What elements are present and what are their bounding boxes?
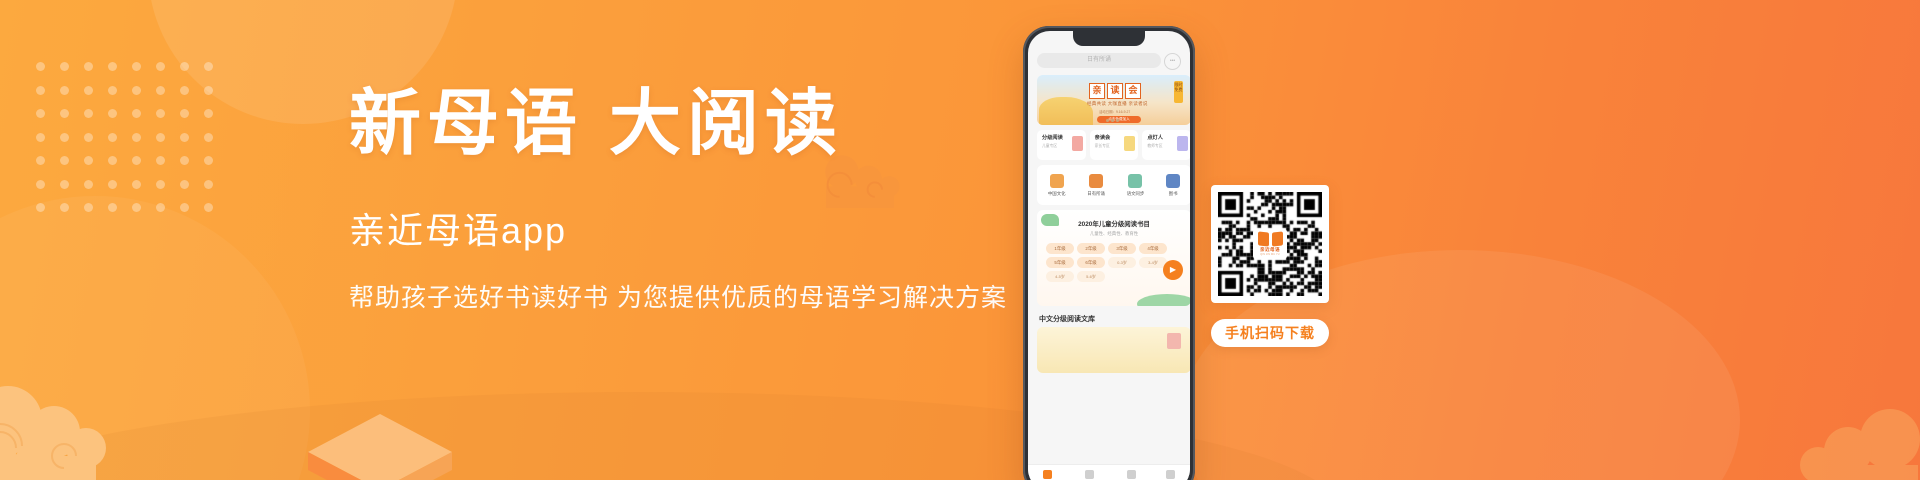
decor-dot <box>60 133 69 142</box>
headline-part-2: 大阅读 <box>609 84 843 164</box>
decor-dot <box>204 109 213 118</box>
tab-user-icon[interactable]: 我的 <box>1166 470 1175 480</box>
phone-notch <box>1073 31 1145 46</box>
grade-chip[interactable]: 4年级 <box>1139 243 1167 254</box>
decor-dot <box>60 62 69 71</box>
booklist-decor-hill <box>1137 294 1190 306</box>
chinese-cloud-icon <box>0 380 156 480</box>
promo-banner: 新母语大阅读 亲近母语app 帮助孩子选好书读好书 为您提供优质的母语学习解决方… <box>0 0 1920 480</box>
decor-dot <box>132 86 141 95</box>
decor-dot <box>36 109 45 118</box>
headline-part-1: 新母语 <box>349 84 583 164</box>
decor-dot <box>36 62 45 71</box>
promo-date: 活动日期：9.16-9.27 <box>1099 109 1130 114</box>
app-search-input[interactable]: 日有所诵 <box>1037 53 1161 68</box>
decor-dot <box>180 62 189 71</box>
decor-dot <box>132 203 141 212</box>
decor-dot <box>60 86 69 95</box>
decor-dot <box>84 109 93 118</box>
decor-dot <box>180 133 189 142</box>
decor-dot <box>84 62 93 71</box>
quick-icon-cell[interactable]: 语文同步 <box>1127 174 1145 197</box>
home-icon <box>1043 470 1052 479</box>
grade-chip[interactable]: 5年级 <box>1046 257 1074 268</box>
tab-grid-icon[interactable]: 分级阅读 <box>1082 470 1097 480</box>
recite-icon <box>1089 174 1103 188</box>
grid-icon <box>1085 470 1094 479</box>
decor-dot <box>36 156 45 165</box>
decor-dot <box>204 133 213 142</box>
decor-dot <box>108 109 117 118</box>
decor-dot <box>36 203 45 212</box>
decor-dot <box>156 203 165 212</box>
decor-dot <box>108 156 117 165</box>
feature-card-graphic <box>1177 136 1188 151</box>
page-title: 新母语大阅读 <box>349 88 1009 160</box>
feature-card-graphic <box>1124 136 1135 151</box>
quick-icon-label: 图书 <box>1166 191 1180 197</box>
banner-copy: 新母语大阅读 亲近母语app 帮助孩子选好书读好书 为您提供优质的母语学习解决方… <box>349 88 1009 314</box>
brand-name-en: QIN JIN MU YU <box>1260 253 1279 256</box>
chinese-cloud-icon-right <box>1760 395 1920 480</box>
decor-circle-bottom-left <box>0 196 310 480</box>
decor-dot <box>108 180 117 189</box>
banner-tagline: 帮助孩子选好书读好书 为您提供优质的母语学习解决方案 <box>349 278 1009 314</box>
open-book-icon <box>1258 232 1283 246</box>
phone-screen: 日有所诵 ••• 亲 读 会 经典共读 大咖直播 亲读者说 活动日期：9.16-… <box>1028 31 1190 480</box>
app-promo-banner[interactable]: 亲 读 会 经典共读 大咖直播 亲读者说 活动日期：9.16-9.27 点击免费… <box>1037 75 1190 125</box>
culture-icon <box>1050 174 1064 188</box>
decor-dot <box>84 133 93 142</box>
compass-icon <box>1127 470 1136 479</box>
tab-home-icon[interactable]: 首页 <box>1043 470 1052 480</box>
decor-dot <box>60 180 69 189</box>
decor-dot <box>84 180 93 189</box>
grade-chip[interactable]: 3年级 <box>1108 243 1136 254</box>
promo-illustration <box>1039 97 1093 125</box>
decor-dot <box>156 62 165 71</box>
promo-title: 亲 读 会 <box>1089 83 1141 99</box>
promo-char-3: 会 <box>1125 83 1141 99</box>
age-chip[interactable]: 4-5岁 <box>1046 271 1074 282</box>
quick-icon-label: 中国文化 <box>1048 191 1066 197</box>
promo-char-1: 亲 <box>1089 83 1105 99</box>
isometric-cube-icon <box>300 408 460 480</box>
decor-dot <box>132 109 141 118</box>
decor-dot <box>156 109 165 118</box>
decor-dot <box>108 203 117 212</box>
decor-dot <box>84 156 93 165</box>
decor-dot <box>108 86 117 95</box>
decor-dot <box>132 133 141 142</box>
decor-dot <box>204 203 213 212</box>
more-dots-icon[interactable]: ••• <box>1164 53 1181 70</box>
decor-dot <box>36 133 45 142</box>
decor-dot <box>180 86 189 95</box>
feature-card-row: 分级阅读儿童专区亲读会家长专区点灯人教师专区 <box>1037 130 1190 160</box>
decor-dot <box>84 86 93 95</box>
book-icon <box>1166 174 1180 188</box>
tab-compass-icon[interactable]: 发现 <box>1127 470 1136 480</box>
user-icon <box>1166 470 1175 479</box>
decor-dot <box>60 156 69 165</box>
grade-chip[interactable]: 1年级 <box>1046 243 1074 254</box>
brand-logo: 亲近母语 QIN JIN MU YU <box>1253 229 1287 259</box>
age-chip[interactable]: 0-3岁 <box>1108 257 1136 268</box>
age-chip[interactable]: 5-6岁 <box>1077 271 1105 282</box>
quick-icon-label: 日有所诵 <box>1087 191 1105 197</box>
decor-dot <box>36 86 45 95</box>
decor-dot <box>156 133 165 142</box>
decor-dot <box>180 180 189 189</box>
feature-card[interactable]: 点灯人教师专区 <box>1142 130 1190 160</box>
decor-dot <box>204 180 213 189</box>
decor-dot <box>60 109 69 118</box>
bookmark-icon <box>1167 333 1181 349</box>
promo-subtitle: 经典共读 大咖直播 亲读者说 <box>1087 101 1148 107</box>
sync-icon <box>1128 174 1142 188</box>
phone-mockup: 日有所诵 ••• 亲 读 会 经典共读 大咖直播 亲读者说 活动日期：9.16-… <box>1023 26 1195 480</box>
decor-dot <box>204 86 213 95</box>
decor-dot <box>156 180 165 189</box>
grade-chip[interactable]: 2年级 <box>1077 243 1105 254</box>
decor-dot <box>156 86 165 95</box>
scan-download-button[interactable]: 手机扫码下载 <box>1211 319 1329 347</box>
booklist-title: 2020年儿童分级阅读书目 <box>1037 210 1190 228</box>
feature-card[interactable]: 分级阅读儿童专区 <box>1037 130 1086 160</box>
leaf-icon <box>1041 214 1059 226</box>
decor-dot <box>108 62 117 71</box>
grade-chip[interactable]: 6年级 <box>1077 257 1105 268</box>
decor-dot <box>84 203 93 212</box>
library-section-title: 中文分级阅读文库 <box>1039 314 1095 324</box>
feature-card-graphic <box>1072 136 1083 151</box>
library-card[interactable] <box>1037 327 1190 373</box>
decor-dot <box>132 62 141 71</box>
decor-dot <box>180 203 189 212</box>
decor-dot <box>132 180 141 189</box>
qr-block: 亲近母语 QIN JIN MU YU 手机扫码下载 <box>1211 185 1329 347</box>
quick-icon-cell[interactable]: 图书 <box>1166 174 1180 197</box>
decor-dot <box>204 62 213 71</box>
decor-dot <box>180 156 189 165</box>
decor-dot <box>204 156 213 165</box>
decor-dot <box>180 109 189 118</box>
feature-card[interactable]: 亲读会家长专区 <box>1090 130 1139 160</box>
decor-dot <box>156 156 165 165</box>
promo-carousel-dots[interactable] <box>1101 119 1119 122</box>
decor-dot <box>132 156 141 165</box>
quick-icon-row: 中国文化日有所诵语文同步图书 <box>1037 165 1190 205</box>
banner-subtitle: 亲近母语app <box>349 202 1009 254</box>
decor-dot <box>60 203 69 212</box>
quick-icon-cell[interactable]: 日有所诵 <box>1087 174 1105 197</box>
app-tab-bar: 首页分级阅读发现我的 <box>1028 464 1190 480</box>
promo-tag: 限时免费 <box>1174 81 1183 103</box>
decor-dot <box>36 180 45 189</box>
promo-char-2: 读 <box>1107 83 1123 99</box>
play-video-icon[interactable]: ▶ <box>1163 260 1183 280</box>
qr-code-card: 亲近母语 QIN JIN MU YU <box>1211 185 1329 303</box>
decor-dot <box>108 133 117 142</box>
booklist-card[interactable]: 2020年儿童分级阅读书目 儿童性、经典性、教育性 1年级2年级3年级4年级5年… <box>1037 210 1190 306</box>
quick-icon-label: 语文同步 <box>1127 191 1145 197</box>
quick-icon-cell[interactable]: 中国文化 <box>1048 174 1066 197</box>
